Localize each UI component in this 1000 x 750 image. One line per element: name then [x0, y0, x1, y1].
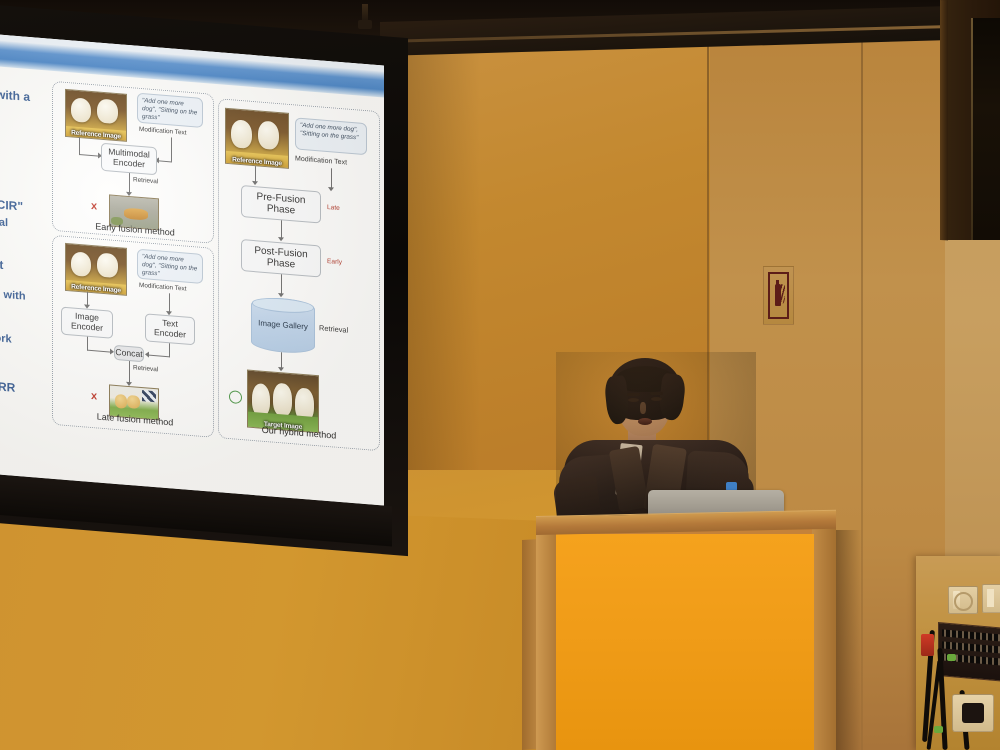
modification-text-label: Modification Text — [295, 155, 347, 166]
eyebrow-right — [650, 392, 663, 395]
edge-label-retrieval: Retrieval — [133, 176, 158, 185]
fire-extinguisher-sign — [763, 266, 794, 325]
block-concat: Concat — [114, 345, 144, 362]
block-multimodal-encoder: Multimodal Encoder — [101, 143, 157, 176]
left-text-fragment-5: work — [0, 332, 12, 346]
modification-text-label: Modification Text — [139, 282, 186, 293]
podium-front-panel — [556, 534, 814, 750]
side-label-late: Late — [327, 204, 340, 212]
edge-label-retrieval: Retrieval — [319, 323, 348, 334]
reference-image-thumbnail: Reference Image — [65, 89, 127, 142]
slide-content: e with a n CIR" sual ext ing with work C… — [0, 34, 384, 506]
av-connector-panel[interactable] — [938, 622, 1000, 682]
light-switch-panel-2[interactable] — [982, 584, 1000, 613]
panel-our-hybrid: Reference Image "Add one more dog", "Sit… — [218, 98, 380, 451]
podium-shadow — [836, 530, 862, 750]
dimmer-dial[interactable] — [954, 592, 973, 611]
left-text-fragment-0: e with a — [0, 88, 30, 105]
light-switch-rocker-2[interactable] — [987, 589, 994, 607]
modification-text-bubble: "Add one more dog", "Sitting on the gras… — [295, 117, 367, 155]
panel-early-fusion: Reference Image "Add one more dog", "Sit… — [52, 81, 214, 244]
block-text-encoder: Text Encoder — [145, 313, 195, 345]
block-post-fusion-phase: Post-Fusion Phase — [241, 239, 321, 277]
podium-rail-right — [812, 520, 836, 750]
side-label-early: Early — [327, 258, 342, 266]
green-cable-clip-2 — [934, 726, 943, 733]
eye-right — [651, 397, 662, 401]
modification-text-label: Modification Text — [139, 126, 186, 137]
block-image-encoder: Image Encoder — [61, 307, 113, 339]
reference-image-thumbnail: Reference Image — [225, 108, 289, 169]
presentation-room-photo: e with a n CIR" sual ext ing with work C… — [0, 0, 1000, 750]
projector-screen: e with a n CIR" sual ext ing with work C… — [0, 4, 408, 529]
podium-rail-left — [536, 524, 556, 750]
panel-late-fusion: Reference Image "Add one more dog", "Sit… — [52, 235, 214, 438]
reference-image-thumbnail: Reference Image — [65, 243, 127, 296]
modification-text-bubble: "Add one more dog", "Sitting on the gras… — [137, 93, 203, 128]
image-gallery-database-icon: Image Gallery — [251, 296, 315, 355]
green-cable-clip-1 — [947, 654, 956, 661]
mouth — [638, 418, 652, 425]
left-text-fragment-6: CIRR — [0, 380, 15, 396]
hair-side-right — [657, 373, 686, 422]
flame-icon — [778, 284, 785, 304]
door-glass — [973, 18, 1000, 240]
left-text-fragment-2: sual — [0, 216, 8, 230]
correct-result-circle-icon — [229, 390, 242, 404]
left-text-fragment-4: ing with — [0, 287, 26, 302]
incorrect-result-x-icon: x — [91, 391, 97, 402]
block-pre-fusion-phase: Pre-Fusion Phase — [241, 185, 321, 223]
sign-border — [768, 272, 789, 319]
eye-left — [628, 398, 639, 402]
modification-text-bubble: "Add one more dog", "Sitting on the gras… — [137, 249, 203, 284]
slide-left-text-column: e with a n CIR" sual ext ing with work C… — [0, 80, 44, 85]
screen-surface: e with a n CIR" sual ext ing with work C… — [0, 34, 384, 506]
red-cable-clip — [921, 634, 934, 656]
edge-label-retrieval: Retrieval — [133, 364, 158, 373]
left-text-fragment-3: ext — [0, 258, 3, 273]
eyebrow-left — [627, 393, 640, 396]
outlet-plug — [962, 703, 984, 723]
left-text-fragment-1: n CIR" — [0, 198, 23, 214]
image-gallery-label: Image Gallery — [258, 319, 308, 333]
power-outlet[interactable] — [952, 694, 994, 732]
light-switch-panel-1[interactable] — [948, 586, 978, 614]
incorrect-result-x-icon: x — [91, 201, 97, 212]
door-frame-bevel — [940, 0, 948, 240]
screen-mount-clamp — [358, 20, 372, 29]
nose — [640, 402, 646, 414]
